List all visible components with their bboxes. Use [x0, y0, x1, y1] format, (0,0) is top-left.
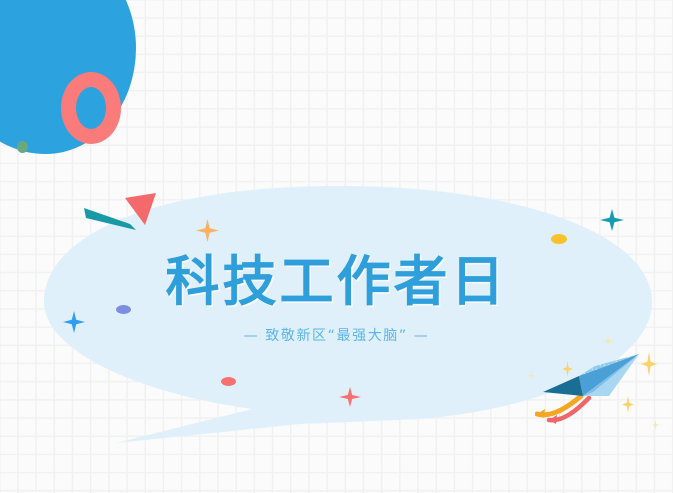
coral-triangle-icon — [123, 193, 156, 225]
coral-dot-shape — [221, 377, 236, 386]
coral-ring-shape — [61, 72, 121, 144]
yellow-dot-shape — [551, 234, 567, 244]
paper-airplane-icon — [535, 352, 665, 432]
periwinkle-dot-shape — [116, 305, 131, 314]
poster-canvas: 科技工作者日 — 致敬新区“最强大脑” — — [0, 0, 673, 493]
green-dot-shape — [17, 141, 28, 153]
